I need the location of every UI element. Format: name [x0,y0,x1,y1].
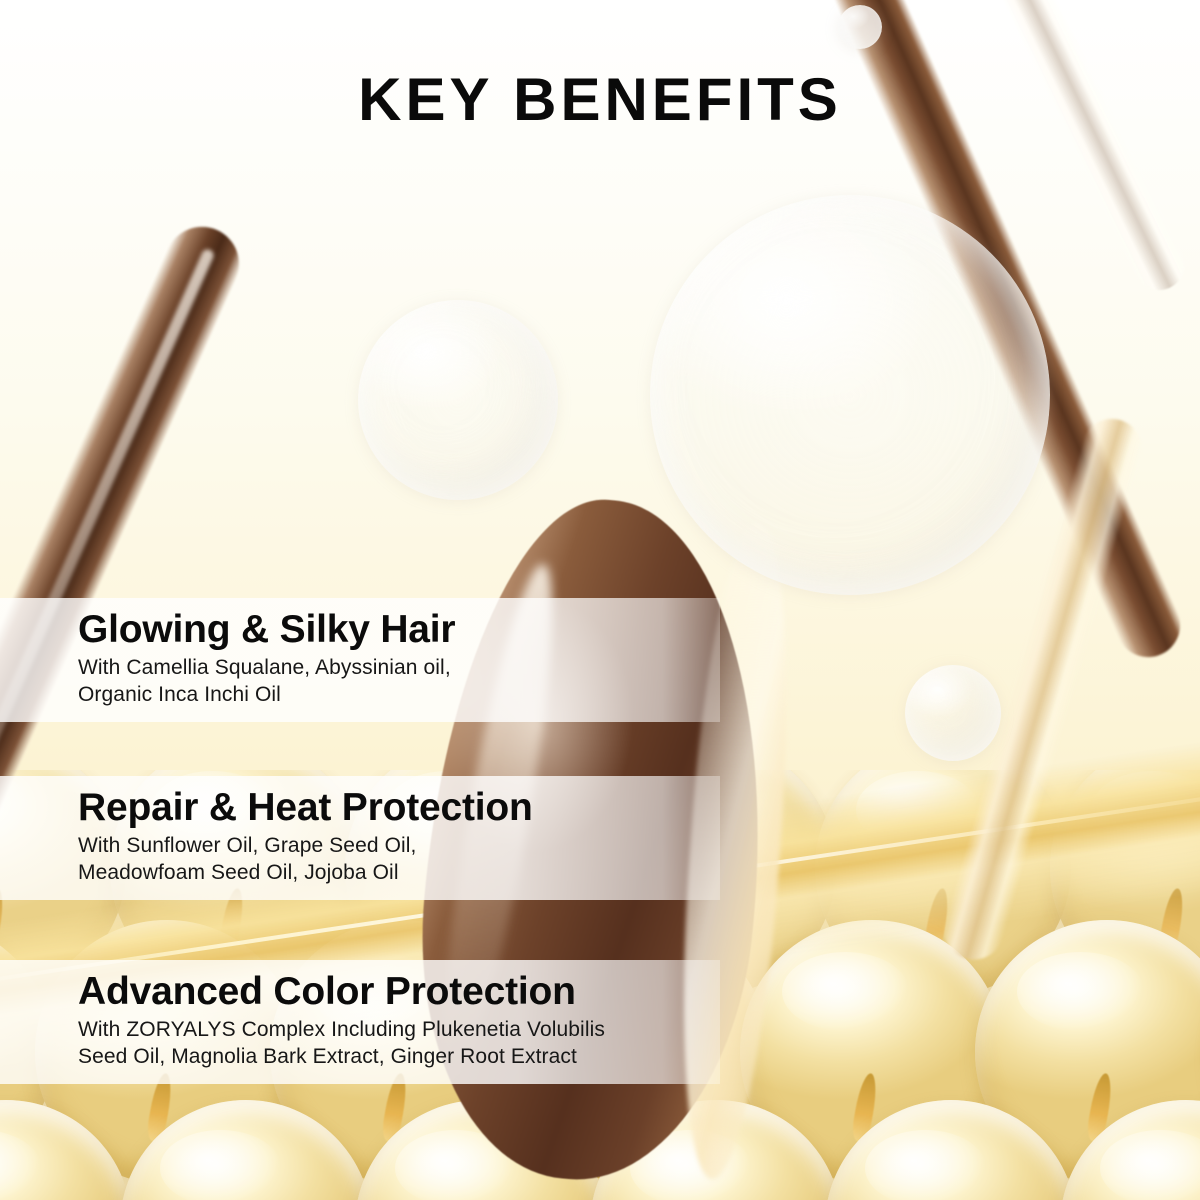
small-clear-bubble-icon [905,665,1001,761]
large-clear-bubble-icon [650,195,1050,595]
benefit-title: Glowing & Silky Hair [78,608,720,652]
oil-capsule [1060,1100,1200,1200]
tiny-droplet-icon [838,5,882,49]
oil-capsule [1050,770,1200,996]
benefit-subtitle: With Sunflower Oil, Grape Seed Oil,Meado… [78,832,720,887]
oil-capsule [590,1100,842,1200]
benefit-block-advanced-color-protection: Advanced Color Protection With ZORYALYS … [0,960,720,1084]
benefit-title: Repair & Heat Protection [78,786,720,830]
brown-oil-strand-lower-left-highlight [0,248,215,856]
oil-capsule [355,1100,607,1200]
benefit-subtitle: With Camellia Squalane, Abyssinian oil,O… [78,654,720,709]
page-title: KEY BENEFITS [0,70,1200,130]
oil-capsule [815,770,1071,996]
oil-capsule [0,1100,132,1200]
oil-capsule [825,1100,1077,1200]
oil-capsule [975,920,1200,1184]
oil-capsule [120,1100,372,1200]
benefit-title: Advanced Color Protection [78,970,720,1014]
gold-strand-right [937,412,1149,967]
benefit-block-glowing-silky-hair: Glowing & Silky Hair With Camellia Squal… [0,598,720,722]
clear-gel-strand-top-right [963,0,1194,299]
medium-clear-bubble-icon [358,300,558,500]
oil-capsule [740,920,1004,1184]
benefit-subtitle: With ZORYALYS Complex Including Plukenet… [78,1016,720,1071]
benefit-block-repair-heat-protection: Repair & Heat Protection With Sunflower … [0,776,720,900]
key-benefits-poster: KEY BENEFITS Glowing & Silky Hair With C… [0,0,1200,1200]
